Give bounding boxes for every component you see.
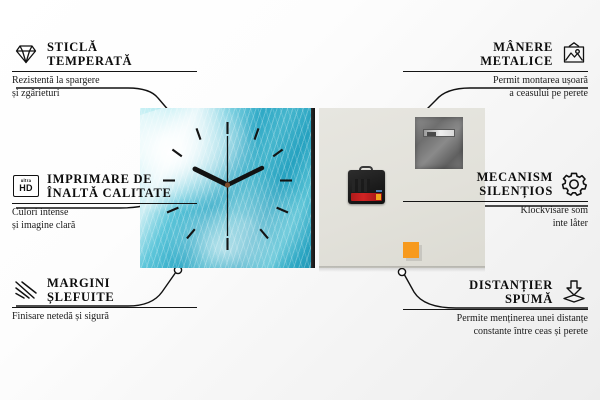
callout-tempered-glass: STICLĂ TEMPERATĂ Rezistentă la spargere … bbox=[12, 40, 197, 100]
callout-title-tempered-glass: STICLĂ TEMPERATĂ bbox=[47, 40, 132, 68]
callout-desc-tempered-glass: Rezistentă la spargere și zgârieturi bbox=[12, 75, 197, 100]
desc-line-1: Culori intense bbox=[12, 207, 68, 218]
clock-minute-hand bbox=[228, 168, 263, 185]
panel-drop-shadow bbox=[319, 266, 485, 272]
desc-line-1: Permit montarea ușoară bbox=[493, 75, 588, 86]
desc-line-1: Finisare netedă și sigură bbox=[12, 311, 109, 322]
panel-right-edge bbox=[311, 108, 315, 268]
desc-line-2: a ceasului pe perete bbox=[509, 88, 588, 99]
callout-divider bbox=[12, 307, 197, 308]
callout-desc-silent-movement: Klockvisare som inte låter bbox=[403, 205, 588, 230]
title-line-2: METALICE bbox=[480, 54, 553, 68]
desc-line-2: inte låter bbox=[553, 218, 588, 229]
battery-terminal bbox=[376, 194, 381, 200]
hanging-frame-icon bbox=[560, 41, 588, 67]
callout-foam-spacer: DISTANȚIER SPUMĂ Permite menținerea unei… bbox=[403, 278, 588, 338]
ultra-hd-badge-icon: ultra HD bbox=[12, 173, 40, 199]
mechanism-label bbox=[376, 190, 382, 192]
callout-divider bbox=[403, 309, 588, 310]
callout-title-foam-spacer: DISTANȚIER SPUMĂ bbox=[469, 278, 553, 306]
callout-title-print-quality: IMPRIMARE DE ÎNALTĂ CALITATE bbox=[47, 172, 172, 200]
title-line-2: ÎNALTĂ CALITATE bbox=[47, 186, 172, 200]
callout-divider bbox=[403, 201, 588, 202]
desc-line-1: Klockvisare som bbox=[521, 205, 589, 216]
badge-hd-text: HD bbox=[19, 184, 32, 193]
hanger-plate-hole bbox=[427, 132, 436, 136]
desc-line-1: Permite menținerea unei distanțe bbox=[457, 313, 588, 324]
callout-title-silent-movement: MECANISM SILENȚIOS bbox=[477, 170, 553, 198]
callout-title-metal-hangers: MÂNERE METALICE bbox=[480, 40, 553, 68]
title-line-2: SILENȚIOS bbox=[479, 184, 553, 198]
desc-line-2: și zgârieturi bbox=[12, 88, 59, 99]
title-line-1: DISTANȚIER bbox=[469, 278, 553, 292]
callout-desc-metal-hangers: Permit montarea ușoară a ceasului pe per… bbox=[403, 75, 588, 100]
title-line-2: TEMPERATĂ bbox=[47, 54, 132, 68]
mechanism-battery bbox=[351, 193, 382, 201]
title-line-1: IMPRIMARE DE bbox=[47, 172, 152, 186]
mechanism-body bbox=[348, 170, 385, 204]
desc-line-2: constante între ceas și perete bbox=[474, 326, 588, 337]
title-line-1: STICLĂ bbox=[47, 40, 98, 54]
arrow-down-foam-icon bbox=[560, 279, 588, 305]
title-line-2: ȘLEFUITE bbox=[47, 290, 114, 304]
desc-line-2: și imagine clară bbox=[12, 220, 75, 231]
desc-line-1: Rezistentă la spargere bbox=[12, 75, 100, 86]
product-infographic: STICLĂ TEMPERATĂ Rezistentă la spargere … bbox=[0, 0, 600, 400]
clock-hour-hand bbox=[195, 169, 228, 185]
title-line-1: MARGINI bbox=[47, 276, 110, 290]
title-line-1: MECANISM bbox=[477, 170, 553, 184]
callout-desc-print-quality: Culori intense și imagine clară bbox=[12, 207, 197, 232]
gear-icon bbox=[560, 171, 588, 197]
title-line-1: MÂNERE bbox=[493, 40, 553, 54]
hanger-plate bbox=[423, 129, 455, 137]
callout-print-quality: ultra HD IMPRIMARE DE ÎNALTĂ CALITATE Cu… bbox=[12, 172, 197, 232]
clock-mechanism bbox=[348, 166, 385, 204]
callout-metal-hangers: MÂNERE METALICE Permit montarea ușoară a… bbox=[403, 40, 588, 100]
callout-polished-edges: MARGINI ȘLEFUITE Finisare netedă și sigu… bbox=[12, 276, 197, 324]
diamond-icon bbox=[12, 41, 40, 67]
diagonal-lines-icon bbox=[12, 277, 40, 303]
callout-title-polished-edges: MARGINI ȘLEFUITE bbox=[47, 276, 114, 304]
callout-divider bbox=[403, 71, 588, 72]
callout-silent-movement: MECANISM SILENȚIOS Klockvisare som inte … bbox=[403, 170, 588, 230]
callout-divider bbox=[12, 71, 197, 72]
metal-hanger-swatch bbox=[415, 117, 463, 169]
callout-desc-polished-edges: Finisare netedă și sigură bbox=[12, 311, 197, 324]
callout-desc-foam-spacer: Permite menținerea unei distanțe constan… bbox=[403, 313, 588, 338]
title-line-2: SPUMĂ bbox=[505, 292, 553, 306]
foam-spacer-pad bbox=[403, 242, 419, 258]
callout-divider bbox=[12, 203, 197, 204]
mechanism-detail bbox=[352, 179, 370, 192]
clock-center-pin bbox=[225, 182, 230, 187]
